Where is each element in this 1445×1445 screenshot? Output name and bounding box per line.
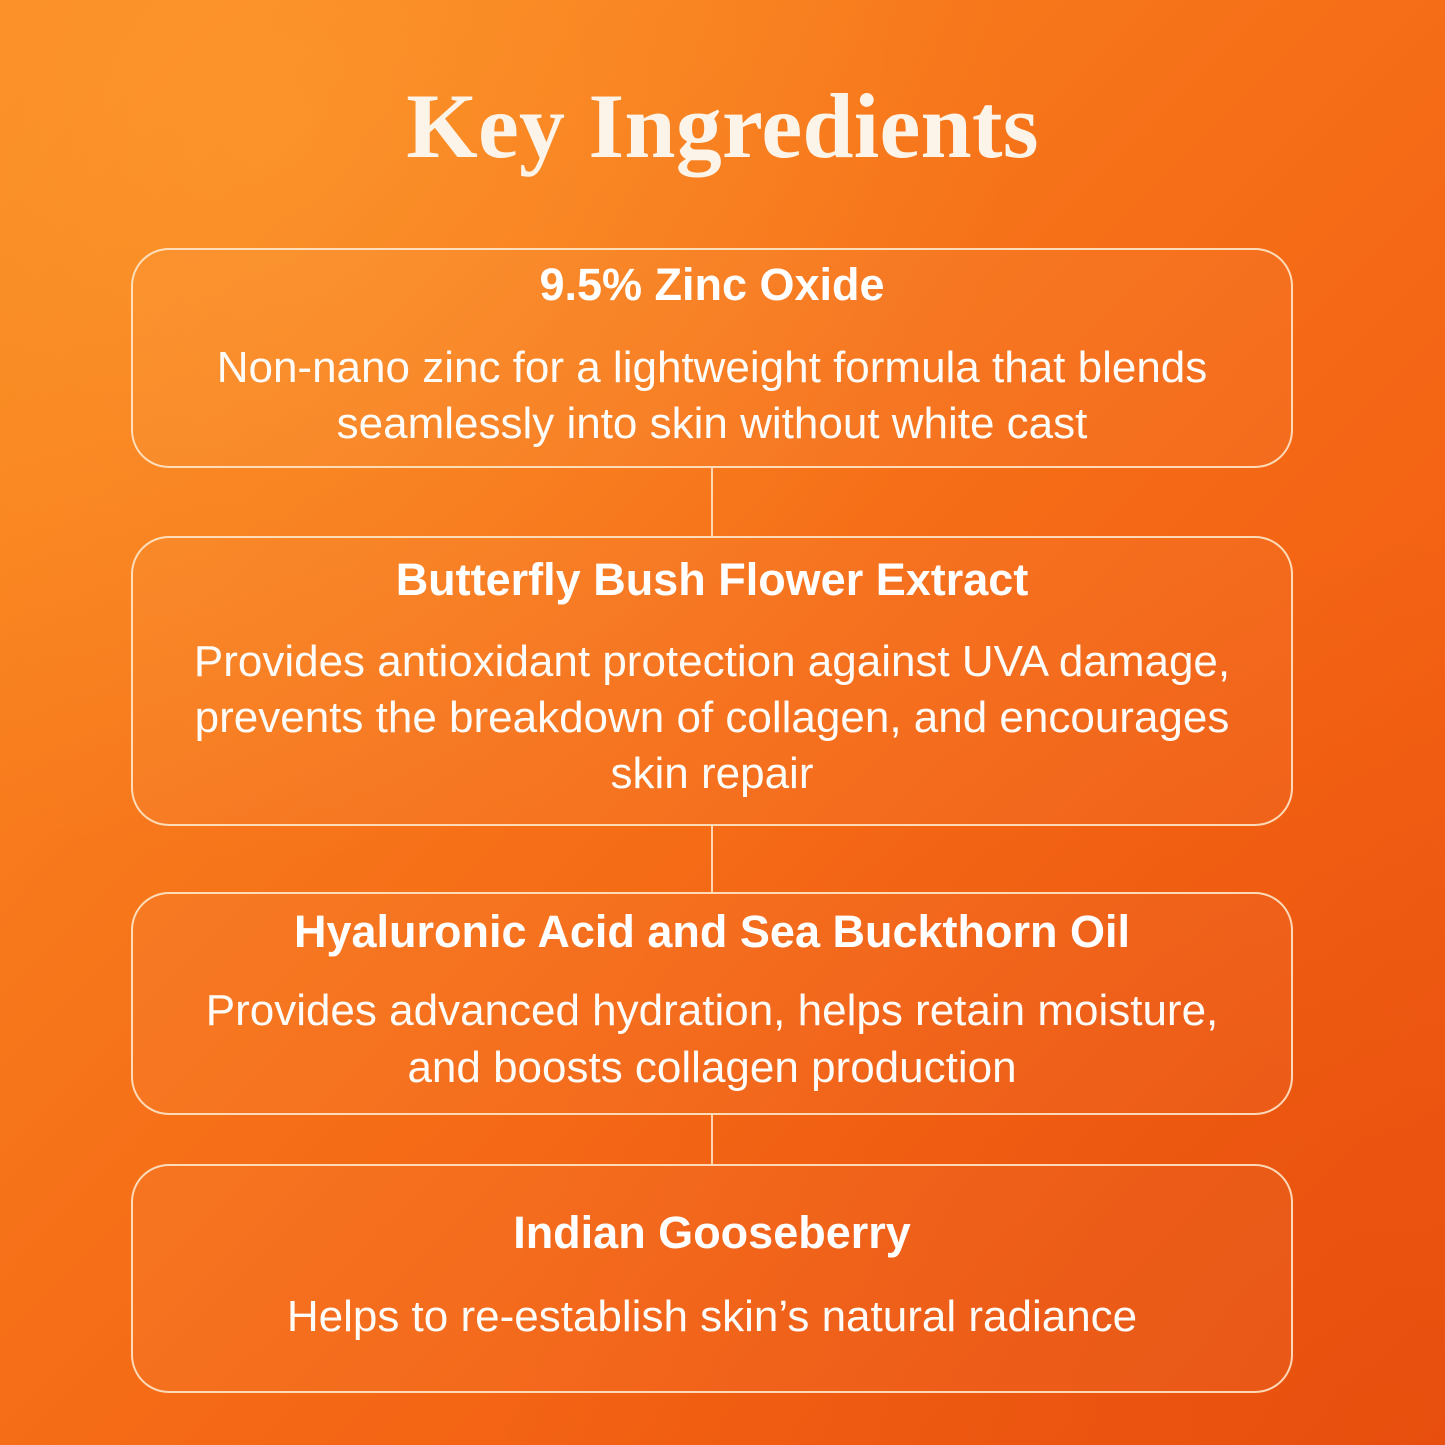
connector-line (711, 1115, 713, 1164)
ingredient-description: Provides antioxidant protection against … (177, 634, 1247, 803)
ingredient-card-indian-gooseberry: Indian Gooseberry Helps to re-establish … (131, 1164, 1293, 1393)
card-connector-1 (131, 468, 1293, 536)
ingredient-card-zinc-oxide: 9.5% Zinc Oxide Non-nano zinc for a ligh… (131, 248, 1293, 468)
ingredient-card-stack: 9.5% Zinc Oxide Non-nano zinc for a ligh… (131, 248, 1293, 1393)
card-connector-2 (131, 826, 1293, 892)
card-connector-3 (131, 1115, 1293, 1164)
connector-line (711, 826, 713, 892)
ingredient-card-butterfly-bush-flower-extract: Butterfly Bush Flower Extract Provides a… (131, 536, 1293, 826)
ingredient-description: Non-nano zinc for a lightweight formula … (177, 340, 1247, 453)
ingredient-title: Butterfly Bush Flower Extract (177, 555, 1247, 605)
ingredient-title: 9.5% Zinc Oxide (177, 260, 1247, 310)
page-title: Key Ingredients (0, 78, 1445, 175)
ingredient-description: Helps to re-establish skin’s natural rad… (177, 1289, 1247, 1345)
ingredient-card-hyaluronic-acid-sea-buckthorn-oil: Hyaluronic Acid and Sea Buckthorn Oil Pr… (131, 892, 1293, 1115)
connector-line (711, 468, 713, 536)
ingredient-title: Hyaluronic Acid and Sea Buckthorn Oil (177, 907, 1247, 957)
key-ingredients-infographic: Key Ingredients 9.5% Zinc Oxide Non-nano… (0, 0, 1445, 1445)
ingredient-description: Provides advanced hydration, helps retai… (177, 983, 1247, 1096)
ingredient-title: Indian Gooseberry (177, 1208, 1247, 1258)
